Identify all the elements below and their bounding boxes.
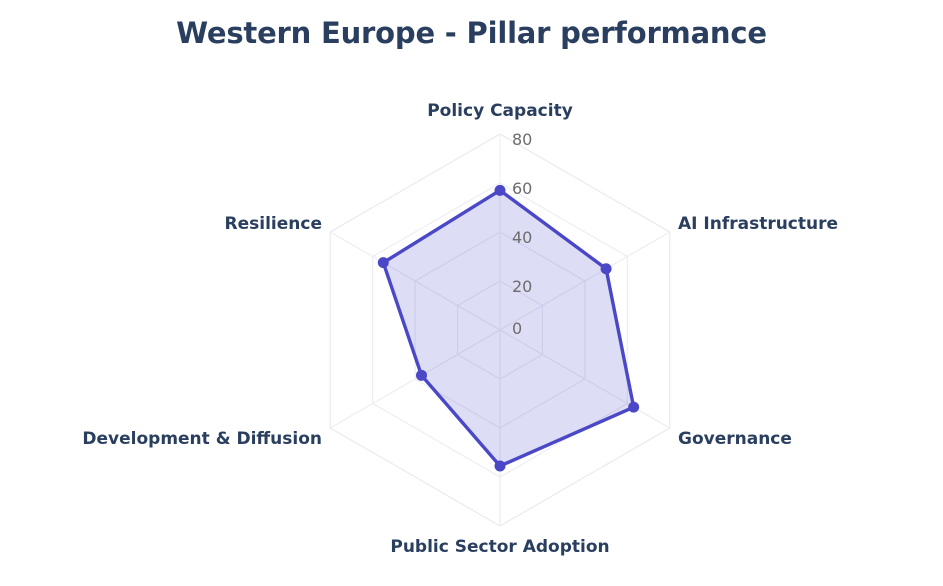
radar-chart-figure: Western Europe - Pillar performance Poli… [0, 0, 943, 586]
radial-tick-label-60: 60 [512, 179, 532, 198]
angular-axis-label-2: Governance [678, 429, 792, 449]
data-point-marker[interactable] [378, 258, 388, 268]
data-point-marker[interactable] [416, 370, 426, 380]
angular-axis-label-5: Resilience [225, 214, 322, 234]
data-point-marker[interactable] [495, 461, 505, 471]
data-trace[interactable] [378, 185, 638, 471]
angular-axis-label-0: Policy Capacity [427, 101, 573, 121]
angular-axis-label-1: AI Infrastructure [678, 214, 838, 234]
data-point-marker[interactable] [629, 402, 639, 412]
radial-tick-label-0: 0 [512, 319, 522, 338]
radial-tick-label-20: 20 [512, 277, 532, 296]
angular-axis-label-4: Development & Diffusion [82, 429, 322, 449]
polar-plot-area: Policy CapacityAI InfrastructureGovernan… [0, 0, 943, 586]
radial-tick-label-40: 40 [512, 228, 532, 247]
angular-axis-label-3: Public Sector Adoption [390, 537, 609, 557]
radial-tick-label-80: 80 [512, 130, 532, 149]
data-point-marker[interactable] [495, 185, 505, 195]
data-point-marker[interactable] [601, 264, 611, 274]
